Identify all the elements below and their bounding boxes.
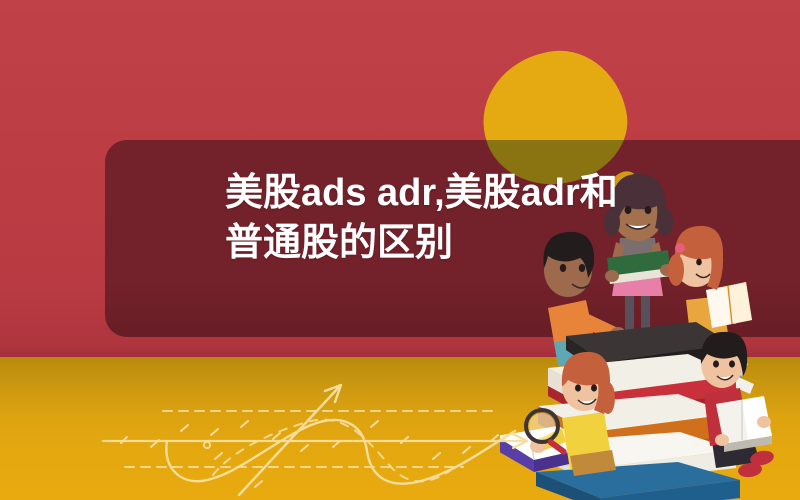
doodle-tick-12 bbox=[463, 447, 470, 453]
doodle-tick-3 bbox=[181, 425, 188, 431]
doodle-origin-marker bbox=[204, 442, 210, 448]
doodle-tick-4 bbox=[211, 429, 218, 435]
stock-chart-doodle bbox=[95, 355, 565, 500]
article-cover-banner: 美股ads adr,美股adr和普通股的区别 bbox=[0, 0, 800, 500]
hair-clip-icon bbox=[675, 243, 685, 253]
orange-book-prop bbox=[706, 282, 752, 328]
doodle-tick-6 bbox=[273, 433, 280, 439]
doodle-dashed-curve bbox=[213, 420, 455, 482]
doodle-tick-11 bbox=[433, 453, 440, 459]
doodle-tick-15 bbox=[215, 453, 222, 459]
doodle-tick-5 bbox=[241, 421, 248, 427]
doodle-tick-7 bbox=[301, 445, 308, 451]
doodle-tick-14 bbox=[255, 481, 262, 487]
page-title: 美股ads adr,美股adr和普通股的区别 bbox=[225, 168, 625, 268]
doodle-tick-9 bbox=[371, 421, 378, 427]
